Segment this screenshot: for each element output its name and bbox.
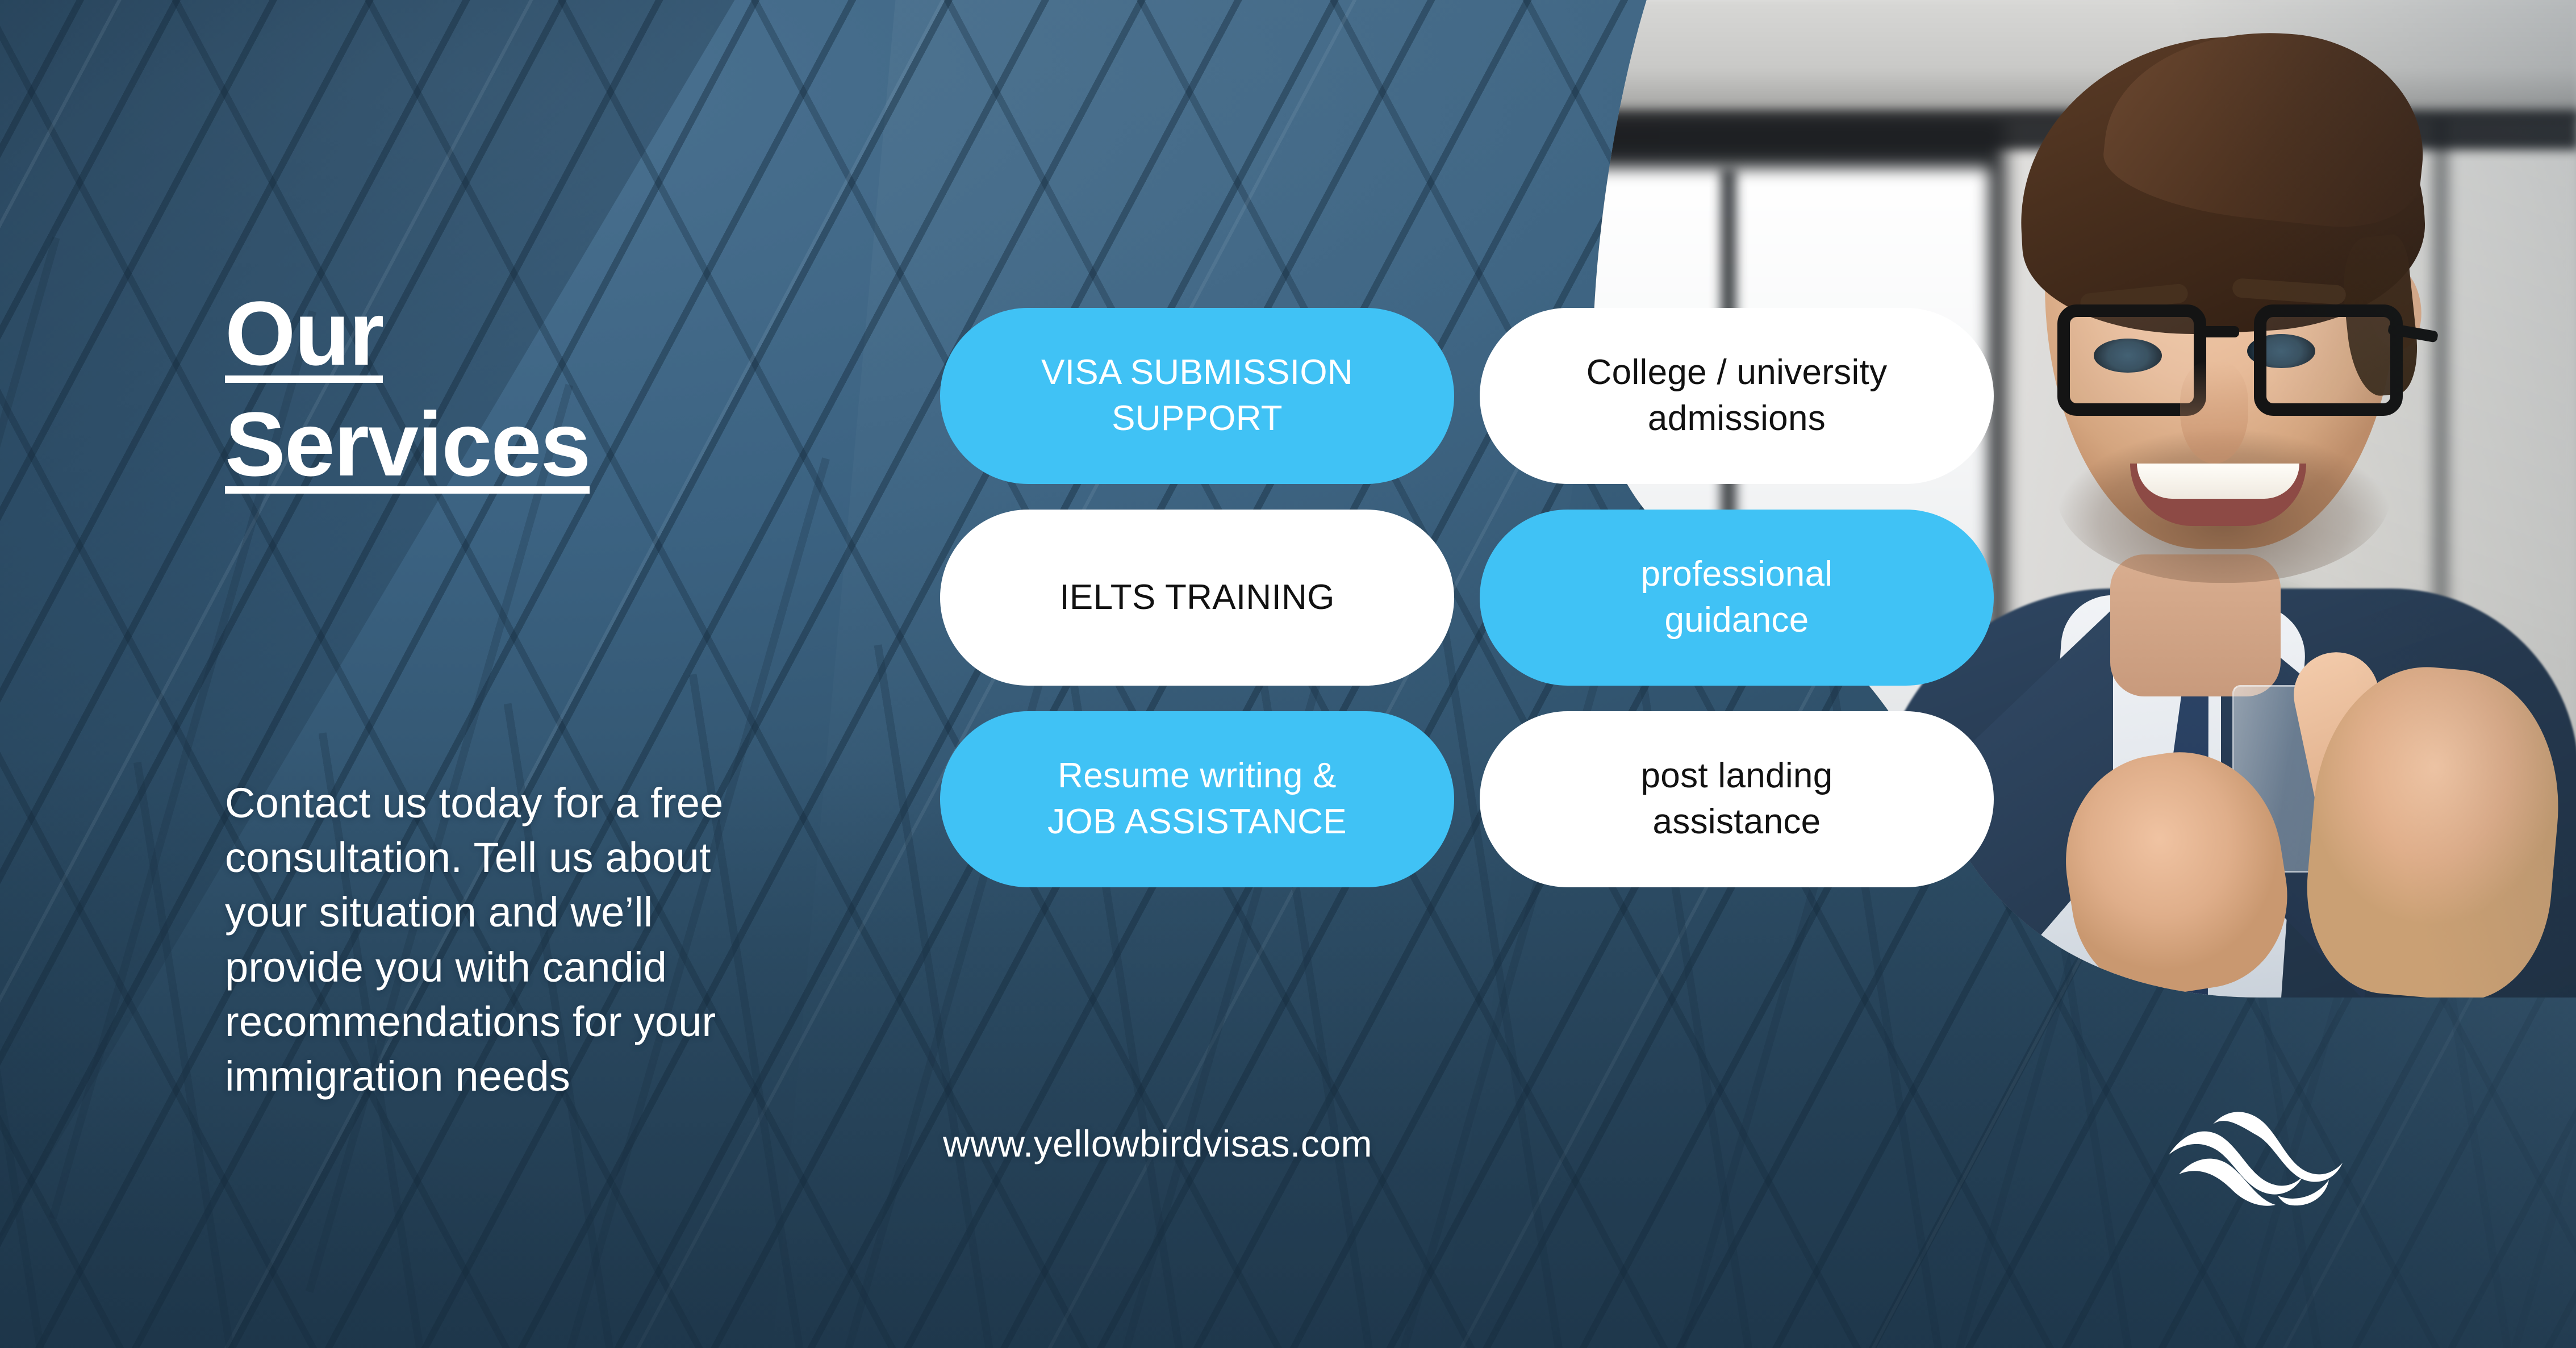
intro-paragraph: Contact us today for a free consultation… [225, 776, 770, 1104]
service-line-1: IELTS TRAINING [1059, 575, 1334, 621]
service-pill-college-university-admissions[interactable]: College / university admissions [1480, 308, 1994, 484]
page-title-line-2: Services [225, 398, 590, 490]
service-line-2: guidance [1641, 598, 1833, 644]
service-pill-resume-writing-job-assistance[interactable]: Resume writing & JOB ASSISTANCE [940, 711, 1454, 887]
yellowbird-waves-logo-icon [2164, 1111, 2352, 1207]
service-line-1: VISA SUBMISSION [1041, 350, 1353, 396]
service-line-2: SUPPORT [1041, 396, 1353, 442]
service-line-2: admissions [1586, 396, 1888, 442]
services-grid: VISA SUBMISSION SUPPORT College / univer… [940, 308, 1994, 887]
service-pill-text: VISA SUBMISSION SUPPORT [1041, 350, 1353, 441]
page-title-line-1: Our [225, 287, 383, 379]
service-pill-text: Resume writing & JOB ASSISTANCE [1047, 753, 1347, 845]
service-pill-text: professional guidance [1641, 552, 1833, 643]
service-pill-text: College / university admissions [1586, 350, 1888, 441]
service-pill-text: post landing assistance [1641, 753, 1833, 845]
page-title: Our Services [225, 287, 850, 490]
service-line-1: College / university [1586, 350, 1888, 396]
service-pill-post-landing-assistance[interactable]: post landing assistance [1480, 711, 1994, 887]
service-line-2: assistance [1641, 799, 1833, 845]
service-pill-professional-guidance[interactable]: professional guidance [1480, 510, 1994, 686]
service-line-1: professional [1641, 552, 1833, 598]
service-line-1: Resume writing & [1047, 753, 1347, 799]
website-url[interactable]: www.yellowbirdvisas.com [943, 1122, 1372, 1165]
service-line-2: JOB ASSISTANCE [1047, 799, 1347, 845]
service-pill-ielts-training[interactable]: IELTS TRAINING [940, 510, 1454, 686]
service-line-1: post landing [1641, 753, 1833, 799]
service-pill-text: IELTS TRAINING [1059, 575, 1334, 621]
service-pill-visa-submission-support[interactable]: VISA SUBMISSION SUPPORT [940, 308, 1454, 484]
services-slide: Our Services Contact us today for a free… [0, 0, 2576, 1348]
